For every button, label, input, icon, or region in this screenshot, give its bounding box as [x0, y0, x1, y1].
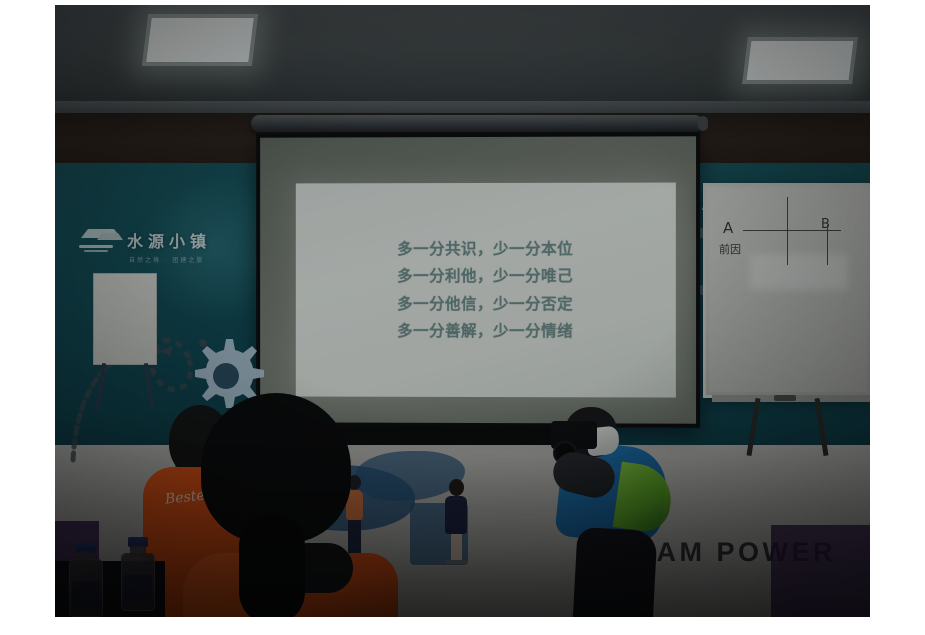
whiteboard-glare	[750, 254, 848, 291]
slide-line-1: 多一分共识，少一分本位	[397, 237, 573, 261]
projector-screen-roller	[251, 115, 703, 132]
photo-page: 水源小镇 自然之境 · 团建之旅 S, YOU AND ME. 力 越	[0, 0, 925, 635]
whiteboard-mark-a: A	[723, 219, 733, 237]
slide-line-3: 多一分他信，少一分否定	[397, 291, 573, 315]
venue-logo-label: 水源小镇	[127, 228, 211, 252]
slide-line-4: 多一分善解，少一分情绪	[397, 318, 573, 342]
whiteboard: A 前因 B	[703, 183, 870, 398]
whiteboard-axis-vertical	[787, 197, 788, 265]
ceiling-light-panel-2	[742, 37, 858, 84]
projected-slide: 多一分共识，少一分本位 多一分利他，少一分唯己 多一分他信，少一分否定 多一分善…	[296, 183, 676, 398]
whiteboard-axis-vertical-2	[827, 225, 828, 265]
projection-screen: 多一分共识，少一分本位 多一分利他，少一分唯己 多一分他信，少一分否定 多一分善…	[256, 132, 700, 428]
flipchart-easel-legs	[95, 363, 155, 409]
whiteboard-surface: A 前因 B	[709, 189, 867, 392]
venue-logo-sublabel: 自然之境 · 团建之旅	[129, 255, 204, 264]
projection-screen-surface: 多一分共识，少一分本位 多一分利他，少一分唯己 多一分他信，少一分否定 多一分善…	[260, 136, 696, 423]
flipchart-easel	[93, 273, 157, 365]
camera-icon	[551, 421, 597, 449]
photographer-legs	[572, 527, 657, 617]
whiteboard-stand	[745, 398, 831, 456]
audience-person-front-ponytail	[239, 513, 305, 617]
water-bottle-2	[121, 537, 155, 611]
ceiling-light-panel-1	[142, 14, 258, 66]
slide-line-2: 多一分利他，少一分唯己	[397, 264, 573, 288]
photographer	[535, 403, 665, 617]
foreground-purple-panel-right	[771, 525, 870, 617]
water-bottle-1	[69, 543, 103, 617]
conference-photo: 水源小镇 自然之境 · 团建之旅 S, YOU AND ME. 力 越	[55, 5, 870, 617]
house-logo-icon	[77, 225, 119, 255]
whiteboard-mark-cause: 前因	[719, 241, 741, 257]
audience-person-front	[183, 393, 398, 617]
mural-figure-2	[445, 479, 467, 564]
venue-logo: 水源小镇	[77, 225, 211, 255]
